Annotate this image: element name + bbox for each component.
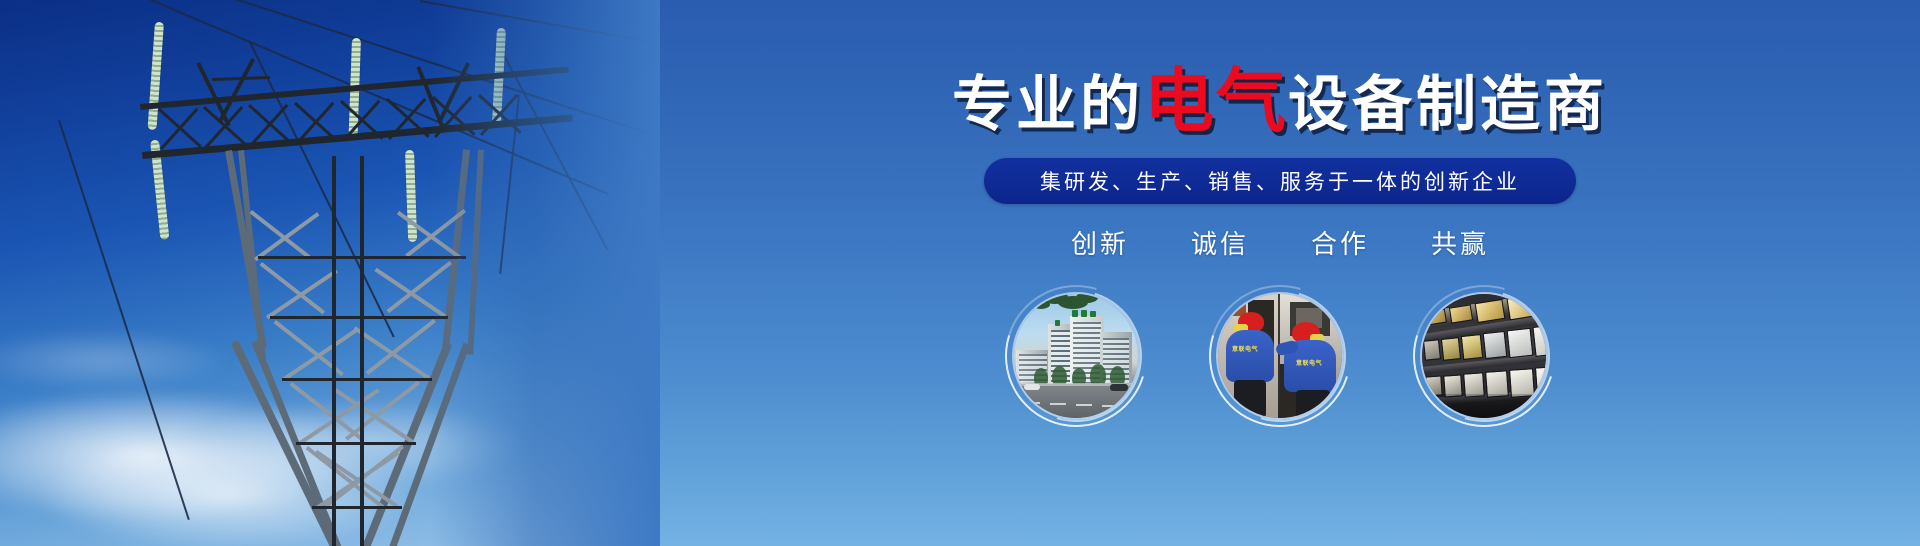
photo-circle-office-building[interactable] bbox=[1005, 285, 1147, 427]
circle-image-certificates bbox=[1422, 294, 1546, 418]
headline-part-2: 设备制造商 bbox=[1288, 71, 1608, 138]
keyword-integrity: 诚信 bbox=[1191, 224, 1249, 261]
transmission-tower-photo bbox=[0, 0, 660, 546]
promo-banner: 专业的电气设备制造商 集研发、生产、销售、服务于一体的创新企业 创新 诚信 合作… bbox=[0, 0, 1920, 546]
circle-image-workers: 意联电气 意联电气 bbox=[1218, 294, 1342, 418]
photo-circle-list: 意联电气 意联电气 bbox=[1005, 285, 1555, 427]
banner-content: 专业的电气设备制造商 集研发、生产、销售、服务于一体的创新企业 创新 诚信 合作… bbox=[640, 0, 1920, 546]
keyword-cooperation: 合作 bbox=[1311, 224, 1369, 261]
headline-highlight: 电气 bbox=[1144, 62, 1288, 140]
keyword-innovation: 创新 bbox=[1071, 224, 1129, 261]
tagline-pill: 集研发、生产、销售、服务于一体的创新企业 bbox=[984, 158, 1576, 204]
keyword-list: 创新 诚信 合作 共赢 bbox=[1071, 224, 1489, 261]
keyword-winwin: 共赢 bbox=[1431, 224, 1489, 261]
headline-part-1: 专业的 bbox=[952, 71, 1144, 138]
photo-circle-certificates[interactable] bbox=[1413, 285, 1555, 427]
photo-edge-fade bbox=[430, 0, 660, 546]
headline: 专业的电气设备制造商 bbox=[952, 66, 1608, 136]
photo-circle-workers[interactable]: 意联电气 意联电气 bbox=[1209, 285, 1351, 427]
circle-image-office-building bbox=[1014, 294, 1138, 418]
